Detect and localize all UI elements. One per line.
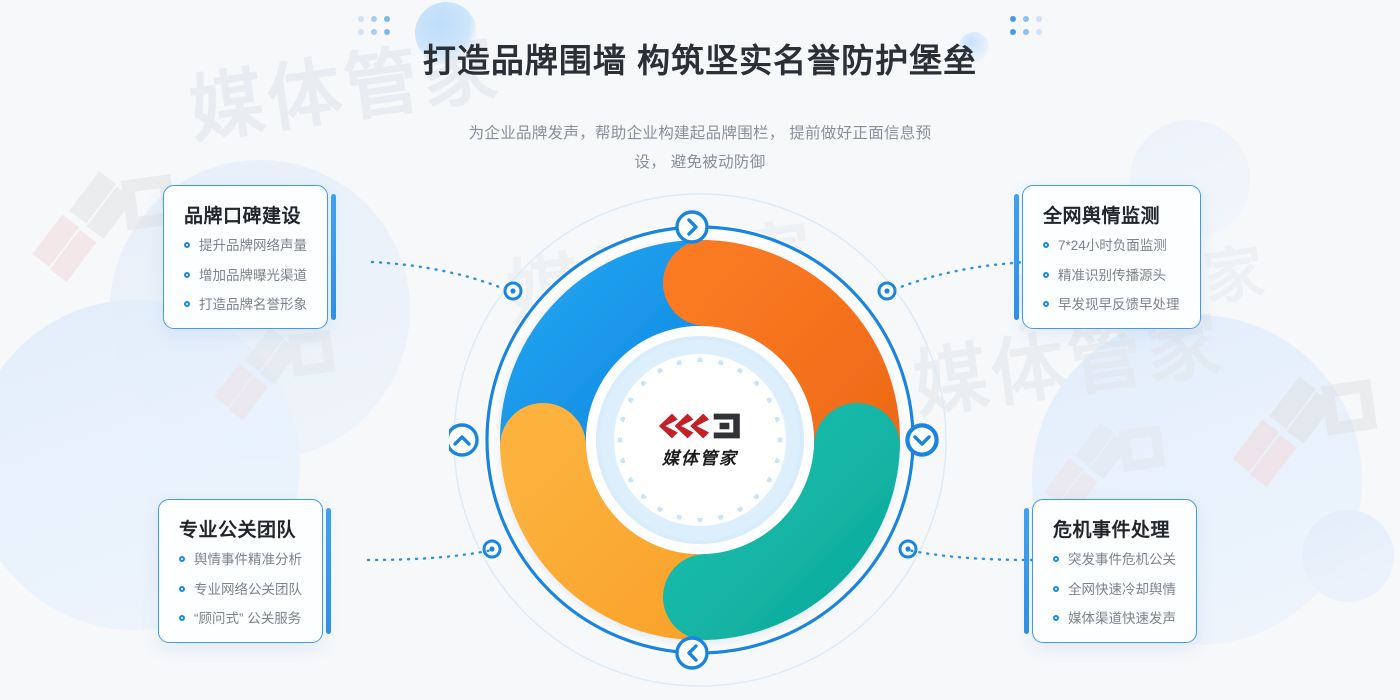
card-item: 突发事件危机公关 [1053, 553, 1176, 567]
card-item: 提升品牌网络声量 [184, 239, 307, 253]
card-item: 全网快速冷却舆情 [1053, 583, 1176, 597]
card-item: 打造品牌名誉形象 [184, 298, 307, 312]
page-subtitle-line1: 为企业品牌发声，帮助企业构建起品牌围栏， 提前做好正面信息预 [420, 120, 980, 149]
card-item: 7*24小时负面监测 [1043, 239, 1180, 253]
card-public-opinion[interactable]: 全网舆情监测 7*24小时负面监测 精准识别传播源头 早发现早反馈早处理 [1022, 185, 1201, 329]
card-pr-team[interactable]: 专业公关团队 舆情事件精准分析 专业网络公关团队 “顾问式” 公关服务 [158, 499, 323, 643]
page-title: 打造品牌围墙 构筑坚实名誉防护堡垒 [423, 40, 977, 81]
segmented-wheel: 媒体管家 [449, 189, 951, 691]
hub-center: 媒体管家 [622, 362, 778, 518]
hub-brand-name: 媒体管家 [662, 444, 738, 469]
card-item-list: 7*24小时负面监测 精准识别传播源头 早发现早反馈早处理 [1043, 239, 1180, 312]
marker-top [677, 212, 707, 242]
page-header: 打造品牌围墙 构筑坚实名誉防护堡垒 为企业品牌发声，帮助企业构建起品牌围栏， 提… [0, 18, 1400, 178]
brand-watermark-logo [1215, 366, 1395, 525]
card-item: 专业网络公关团队 [179, 583, 302, 597]
card-item: 媒体渠道快速发声 [1053, 612, 1176, 626]
card-title: 专业公关团队 [179, 515, 302, 542]
card-item: 精准识别传播源头 [1043, 269, 1180, 283]
card-accent-bar [1014, 194, 1019, 320]
card-item: 早发现早反馈早处理 [1043, 298, 1180, 312]
card-crisis-handling[interactable]: 危机事件处理 突发事件危机公关 全网快速冷却舆情 媒体渠道快速发声 [1032, 499, 1197, 643]
card-accent-bar [326, 508, 331, 634]
marker-bottom [677, 638, 707, 668]
card-title: 危机事件处理 [1053, 515, 1176, 542]
marker-left [449, 425, 477, 455]
brand-watermark-logo [199, 318, 350, 451]
card-item-list: 突发事件危机公关 全网快速冷却舆情 媒体渠道快速发声 [1053, 553, 1176, 626]
card-title: 全网舆情监测 [1043, 201, 1180, 228]
card-accent-bar [331, 194, 336, 320]
card-accent-bar [1024, 508, 1029, 634]
card-item: 舆情事件精准分析 [179, 553, 302, 567]
card-item-list: 舆情事件精准分析 专业网络公关团队 “顾问式” 公关服务 [179, 553, 302, 626]
page-subtitle-line2: 设， 避免被动防御 [420, 149, 980, 178]
bg-blob-right-small [1302, 510, 1394, 602]
page-title-wrap: 打造品牌围墙 构筑坚实名誉防护堡垒 [423, 18, 977, 103]
card-item: “顾问式” 公关服务 [179, 612, 302, 626]
card-brand-reputation[interactable]: 品牌口碑建设 提升品牌网络声量 增加品牌曝光渠道 打造品牌名誉形象 [163, 185, 328, 329]
card-item: 增加品牌曝光渠道 [184, 269, 307, 283]
card-title: 品牌口碑建设 [184, 201, 307, 228]
card-item-list: 提升品牌网络声量 增加品牌曝光渠道 打造品牌名誉形象 [184, 239, 307, 312]
page-subtitle: 为企业品牌发声，帮助企业构建起品牌围栏， 提前做好正面信息预 设， 避免被动防御 [420, 120, 980, 177]
marker-right [907, 425, 937, 455]
chevron-brand-mark [657, 411, 743, 441]
page-root: 媒体管家 媒体管家 媒体管家 媒体管家 打造品牌围墙 构筑坚实名誉防护堡垒 为企… [0, 0, 1400, 700]
